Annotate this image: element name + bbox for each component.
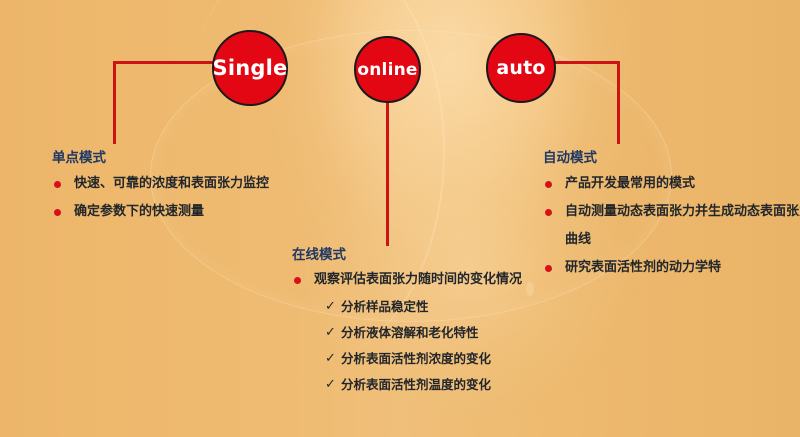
check-icon: ✓ (325, 294, 341, 320)
node-online-label: online (357, 60, 417, 80)
sub-list-item: ✓ 分析表面活性剂温度的变化 (325, 372, 554, 398)
list-item-label: 确定参数下的快速测量 (74, 198, 204, 226)
list-item-label: 自动测量动态表面张力并生成动态表面张力曲线 (565, 198, 800, 254)
connector-single-horizontal (113, 61, 213, 64)
connector-single-vertical (113, 61, 116, 144)
sub-list-item-label: 分析液体溶解和老化特性 (341, 320, 479, 346)
section-auto-items: 产品开发最常用的模式 自动测量动态表面张力并生成动态表面张力曲线 研究表面活性剂… (543, 170, 800, 282)
connector-auto-vertical (617, 61, 620, 144)
list-item: 研究表面活性剂的动力学特 (543, 254, 800, 282)
check-icon: ✓ (325, 320, 341, 346)
sub-list-item-label: 分析表面活性剂浓度的变化 (341, 346, 491, 372)
node-single-mode[interactable]: Single (212, 30, 288, 106)
section-online-items: 观察评估表面张力随时间的变化情况 ✓ 分析样品稳定性 ✓ 分析液体溶解和老化特性… (292, 266, 554, 398)
section-single-items: 快速、可靠的浓度和表面张力监控 确定参数下的快速测量 (52, 170, 312, 226)
section-online-heading: 在线模式 (292, 246, 554, 264)
sub-list-item-label: 分析表面活性剂温度的变化 (341, 372, 491, 398)
section-auto-mode: 自动模式 产品开发最常用的模式 自动测量动态表面张力并生成动态表面张力曲线 研究… (543, 149, 800, 282)
list-item-label: 观察评估表面张力随时间的变化情况 (314, 266, 522, 294)
node-single-label: Single (213, 56, 288, 80)
check-icon: ✓ (325, 372, 341, 398)
node-auto-mode[interactable]: auto (486, 33, 556, 103)
list-item: 确定参数下的快速测量 (52, 198, 312, 226)
check-icon: ✓ (325, 346, 341, 372)
section-single-heading: 单点模式 (52, 149, 312, 167)
sub-list-item: ✓ 分析样品稳定性 (325, 294, 554, 320)
sub-list-item: ✓ 分析液体溶解和老化特性 (325, 320, 554, 346)
list-item-label: 快速、可靠的浓度和表面张力监控 (74, 170, 269, 198)
node-auto-label: auto (496, 57, 545, 79)
list-item-label: 研究表面活性剂的动力学特 (565, 254, 721, 282)
list-item-label: 产品开发最常用的模式 (565, 170, 695, 198)
section-auto-heading: 自动模式 (543, 149, 800, 167)
list-item: 快速、可靠的浓度和表面张力监控 (52, 170, 312, 198)
list-item: 产品开发最常用的模式 (543, 170, 800, 198)
section-online-mode: 在线模式 观察评估表面张力随时间的变化情况 ✓ 分析样品稳定性 ✓ 分析液体溶解… (292, 246, 554, 398)
sub-list-item-label: 分析样品稳定性 (341, 294, 429, 320)
sub-list-item: ✓ 分析表面活性剂浓度的变化 (325, 346, 554, 372)
list-item: 自动测量动态表面张力并生成动态表面张力曲线 (543, 198, 800, 254)
node-online-mode[interactable]: online (354, 36, 421, 103)
connector-online-vertical (386, 100, 389, 246)
connector-auto-horizontal (554, 61, 620, 64)
list-item: 观察评估表面张力随时间的变化情况 (292, 266, 554, 294)
diagram-canvas: Single online auto 单点模式 快速、可靠的浓度和表面张力监控 … (0, 0, 800, 437)
section-single-mode: 单点模式 快速、可靠的浓度和表面张力监控 确定参数下的快速测量 (52, 149, 312, 226)
